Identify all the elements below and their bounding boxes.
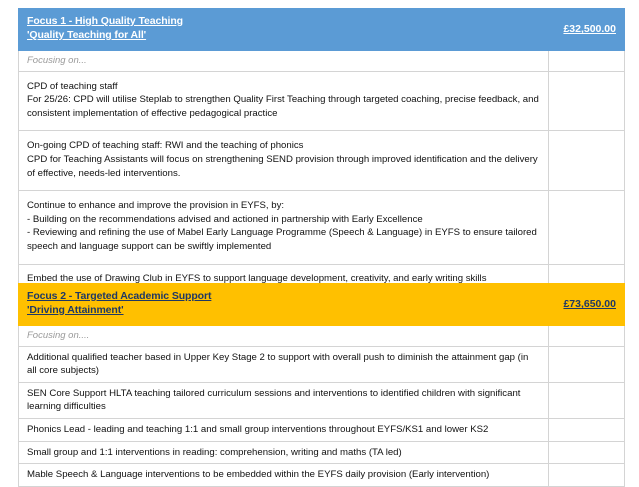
table-row: Small group and 1:1 interventions in rea… bbox=[19, 441, 625, 464]
focus-2-focusing-label: Focusing on.... bbox=[19, 325, 549, 346]
focus-1-focusing-label: Focusing on... bbox=[19, 50, 549, 71]
focus-2-focusing-row: Focusing on.... bbox=[19, 325, 625, 346]
focus-1-header-title: Focus 1 - High Quality Teaching 'Quality… bbox=[19, 9, 549, 51]
focus-2-header-title: Focus 2 - Targeted Academic Support 'Dri… bbox=[19, 284, 549, 326]
focus-1-header-line2: 'Quality Teaching for All' bbox=[27, 29, 540, 43]
focus-1-row-1-amount bbox=[549, 71, 625, 131]
focus-1-row-3-amount bbox=[549, 191, 625, 264]
focus-1-table: Focus 1 - High Quality Teaching 'Quality… bbox=[18, 8, 625, 294]
table-row: Mable Speech & Language interventions to… bbox=[19, 464, 625, 487]
table-row: Phonics Lead - leading and teaching 1:1 … bbox=[19, 419, 625, 442]
focus-1-header-amount: £32,500.00 bbox=[549, 9, 625, 51]
focus-2-row-5-amount bbox=[549, 464, 625, 487]
focus-1-row-3-text: Continue to enhance and improve the prov… bbox=[19, 191, 549, 264]
focus-1-focusing-amount bbox=[549, 50, 625, 71]
focus-1-row-2-amount bbox=[549, 131, 625, 191]
document-page: Focus 1 - High Quality Teaching 'Quality… bbox=[0, 0, 639, 456]
focus-2-row-3-text: Phonics Lead - leading and teaching 1:1 … bbox=[19, 419, 549, 442]
focus-1-row-2-text: On-going CPD of teaching staff: RWI and … bbox=[19, 131, 549, 191]
focus-2-row-1-amount bbox=[549, 346, 625, 382]
focus-section-1: Focus 1 - High Quality Teaching 'Quality… bbox=[18, 8, 624, 294]
focus-2-row-4-amount bbox=[549, 441, 625, 464]
table-row: On-going CPD of teaching staff: RWI and … bbox=[19, 131, 625, 191]
focus-2-table: Focus 2 - Targeted Academic Support 'Dri… bbox=[18, 283, 625, 487]
focus-2-row-5-text: Mable Speech & Language interventions to… bbox=[19, 464, 549, 487]
focus-2-header-amount: £73,650.00 bbox=[549, 284, 625, 326]
focus-2-row-1-text: Additional qualified teacher based in Up… bbox=[19, 346, 549, 382]
focus-2-row-4-text: Small group and 1:1 interventions in rea… bbox=[19, 441, 549, 464]
focus-2-row-2-amount bbox=[549, 382, 625, 418]
table-row: Additional qualified teacher based in Up… bbox=[19, 346, 625, 382]
focus-2-focusing-amount bbox=[549, 325, 625, 346]
focus-1-header-row: Focus 1 - High Quality Teaching 'Quality… bbox=[19, 9, 625, 51]
focus-1-row-1-text: CPD of teaching staff For 25/26: CPD wil… bbox=[19, 71, 549, 131]
table-row: Continue to enhance and improve the prov… bbox=[19, 191, 625, 264]
focus-section-2: Focus 2 - Targeted Academic Support 'Dri… bbox=[18, 283, 624, 487]
focus-2-row-3-amount bbox=[549, 419, 625, 442]
focus-1-focusing-row: Focusing on... bbox=[19, 50, 625, 71]
focus-2-header-row: Focus 2 - Targeted Academic Support 'Dri… bbox=[19, 284, 625, 326]
focus-1-header-line1: Focus 1 - High Quality Teaching bbox=[27, 15, 540, 29]
table-row: SEN Core Support HLTA teaching tailored … bbox=[19, 382, 625, 418]
focus-2-header-line1: Focus 2 - Targeted Academic Support bbox=[27, 290, 540, 304]
table-row: CPD of teaching staff For 25/26: CPD wil… bbox=[19, 71, 625, 131]
focus-2-row-2-text: SEN Core Support HLTA teaching tailored … bbox=[19, 382, 549, 418]
focus-2-header-line2: 'Driving Attainment' bbox=[27, 304, 540, 318]
